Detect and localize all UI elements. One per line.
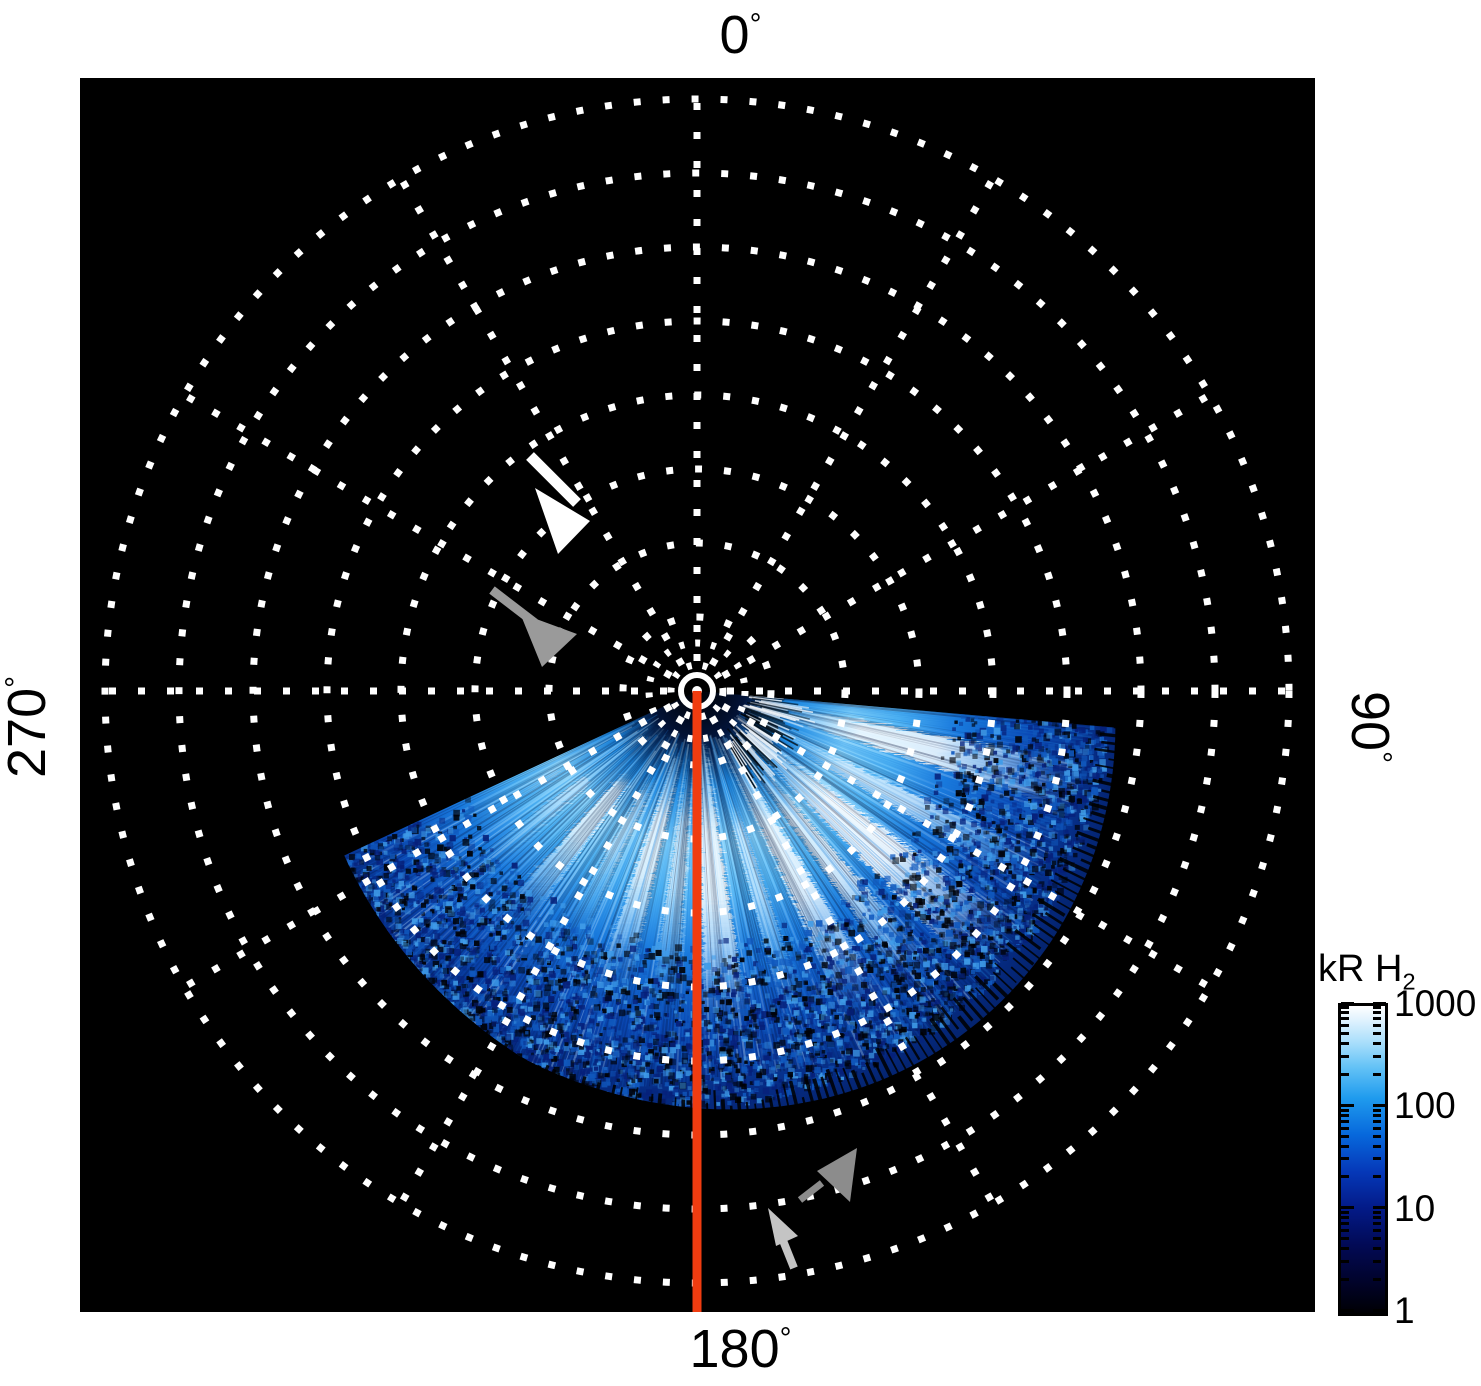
colorbar-tick-label: 100 bbox=[1394, 1087, 1456, 1124]
colorbar-minor-tick bbox=[1373, 1247, 1381, 1250]
axis-label-270deg: 270° bbox=[0, 652, 54, 802]
colorbar-minor-tick bbox=[1373, 1042, 1381, 1045]
aurora-edge-tooth bbox=[714, 1090, 715, 1120]
colorbar-major-tick bbox=[1373, 1002, 1386, 1005]
colorbar-minor-tick bbox=[1341, 1127, 1349, 1130]
colorbar-minor-tick bbox=[1373, 1024, 1381, 1027]
colorbar-minor-tick bbox=[1373, 1032, 1381, 1035]
colorbar-tick-label: 1 bbox=[1394, 1292, 1415, 1329]
colorbar-minor-tick bbox=[1341, 1216, 1349, 1219]
colorbar-minor-tick bbox=[1373, 1073, 1381, 1076]
colorbar-major-tick bbox=[1373, 1104, 1386, 1107]
polar-plot-svg bbox=[80, 78, 1315, 1312]
polar-plot-panel bbox=[80, 78, 1315, 1312]
colorbar-minor-tick bbox=[1373, 1229, 1381, 1232]
colorbar-minor-tick bbox=[1341, 1017, 1349, 1020]
colorbar-minor-tick bbox=[1373, 1135, 1381, 1138]
axis-label-90deg: 90° bbox=[1343, 652, 1397, 802]
colorbar-minor-tick bbox=[1373, 1216, 1381, 1219]
colorbar-minor-tick bbox=[1373, 1211, 1381, 1214]
colorbar-major-tick bbox=[1341, 1309, 1354, 1312]
colorbar-minor-tick bbox=[1373, 1260, 1381, 1263]
colorbar-minor-tick bbox=[1341, 1032, 1349, 1035]
colorbar-minor-tick bbox=[1341, 1024, 1349, 1027]
colorbar-minor-tick bbox=[1341, 1229, 1349, 1232]
polar-aurora-figure: 0° 180° 270° 90° bbox=[0, 0, 1481, 1386]
colorbar-minor-tick bbox=[1341, 1237, 1349, 1240]
colorbar-minor-tick bbox=[1373, 1120, 1381, 1123]
colorbar: kR H2 1000100101 bbox=[1318, 948, 1481, 1328]
colorbar-minor-tick bbox=[1373, 1006, 1381, 1009]
colorbar-minor-tick bbox=[1341, 1114, 1349, 1117]
colorbar-minor-tick bbox=[1373, 1127, 1381, 1130]
colorbar-major-tick bbox=[1341, 1002, 1354, 1005]
colorbar-minor-tick bbox=[1341, 1073, 1349, 1076]
aurora-edge-tooth bbox=[707, 1103, 708, 1134]
colorbar-major-tick bbox=[1373, 1206, 1386, 1209]
colorbar-minor-tick bbox=[1341, 1120, 1349, 1123]
colorbar-minor-tick bbox=[1373, 1278, 1381, 1281]
colorbar-major-tick bbox=[1373, 1309, 1386, 1312]
colorbar-minor-tick bbox=[1341, 1145, 1349, 1148]
colorbar-minor-tick bbox=[1341, 1135, 1349, 1138]
colorbar-minor-tick bbox=[1373, 1109, 1381, 1112]
colorbar-minor-tick bbox=[1341, 1222, 1349, 1225]
colorbar-major-tick bbox=[1341, 1206, 1354, 1209]
colorbar-minor-tick bbox=[1341, 1006, 1349, 1009]
colorbar-minor-tick bbox=[1373, 1011, 1381, 1014]
colorbar-minor-tick bbox=[1341, 1109, 1349, 1112]
colorbar-tick-label: 10 bbox=[1394, 1190, 1435, 1227]
axis-label-0deg: 0° bbox=[0, 8, 1481, 62]
axis-label-180deg: 180° bbox=[0, 1322, 1481, 1376]
colorbar-tick-label: 1000 bbox=[1394, 985, 1476, 1022]
colorbar-major-tick bbox=[1341, 1104, 1354, 1107]
colorbar-minor-tick bbox=[1341, 1211, 1349, 1214]
aurora-edge-tooth bbox=[683, 1100, 684, 1129]
colorbar-minor-tick bbox=[1373, 1157, 1381, 1160]
colorbar-minor-tick bbox=[1341, 1011, 1349, 1014]
aurora-edge-tooth bbox=[665, 1105, 667, 1133]
colorbar-minor-tick bbox=[1373, 1017, 1381, 1020]
colorbar-minor-tick bbox=[1341, 1157, 1349, 1160]
colorbar-minor-tick bbox=[1373, 1145, 1381, 1148]
colorbar-minor-tick bbox=[1373, 1222, 1381, 1225]
colorbar-minor-tick bbox=[1373, 1175, 1381, 1178]
colorbar-minor-tick bbox=[1341, 1247, 1349, 1250]
colorbar-minor-tick bbox=[1373, 1237, 1381, 1240]
colorbar-minor-tick bbox=[1341, 1055, 1349, 1058]
colorbar-minor-tick bbox=[1341, 1175, 1349, 1178]
colorbar-minor-tick bbox=[1341, 1042, 1349, 1045]
colorbar-minor-tick bbox=[1373, 1055, 1381, 1058]
colorbar-minor-tick bbox=[1373, 1114, 1381, 1117]
colorbar-minor-tick bbox=[1341, 1278, 1349, 1281]
colorbar-minor-tick bbox=[1341, 1260, 1349, 1263]
